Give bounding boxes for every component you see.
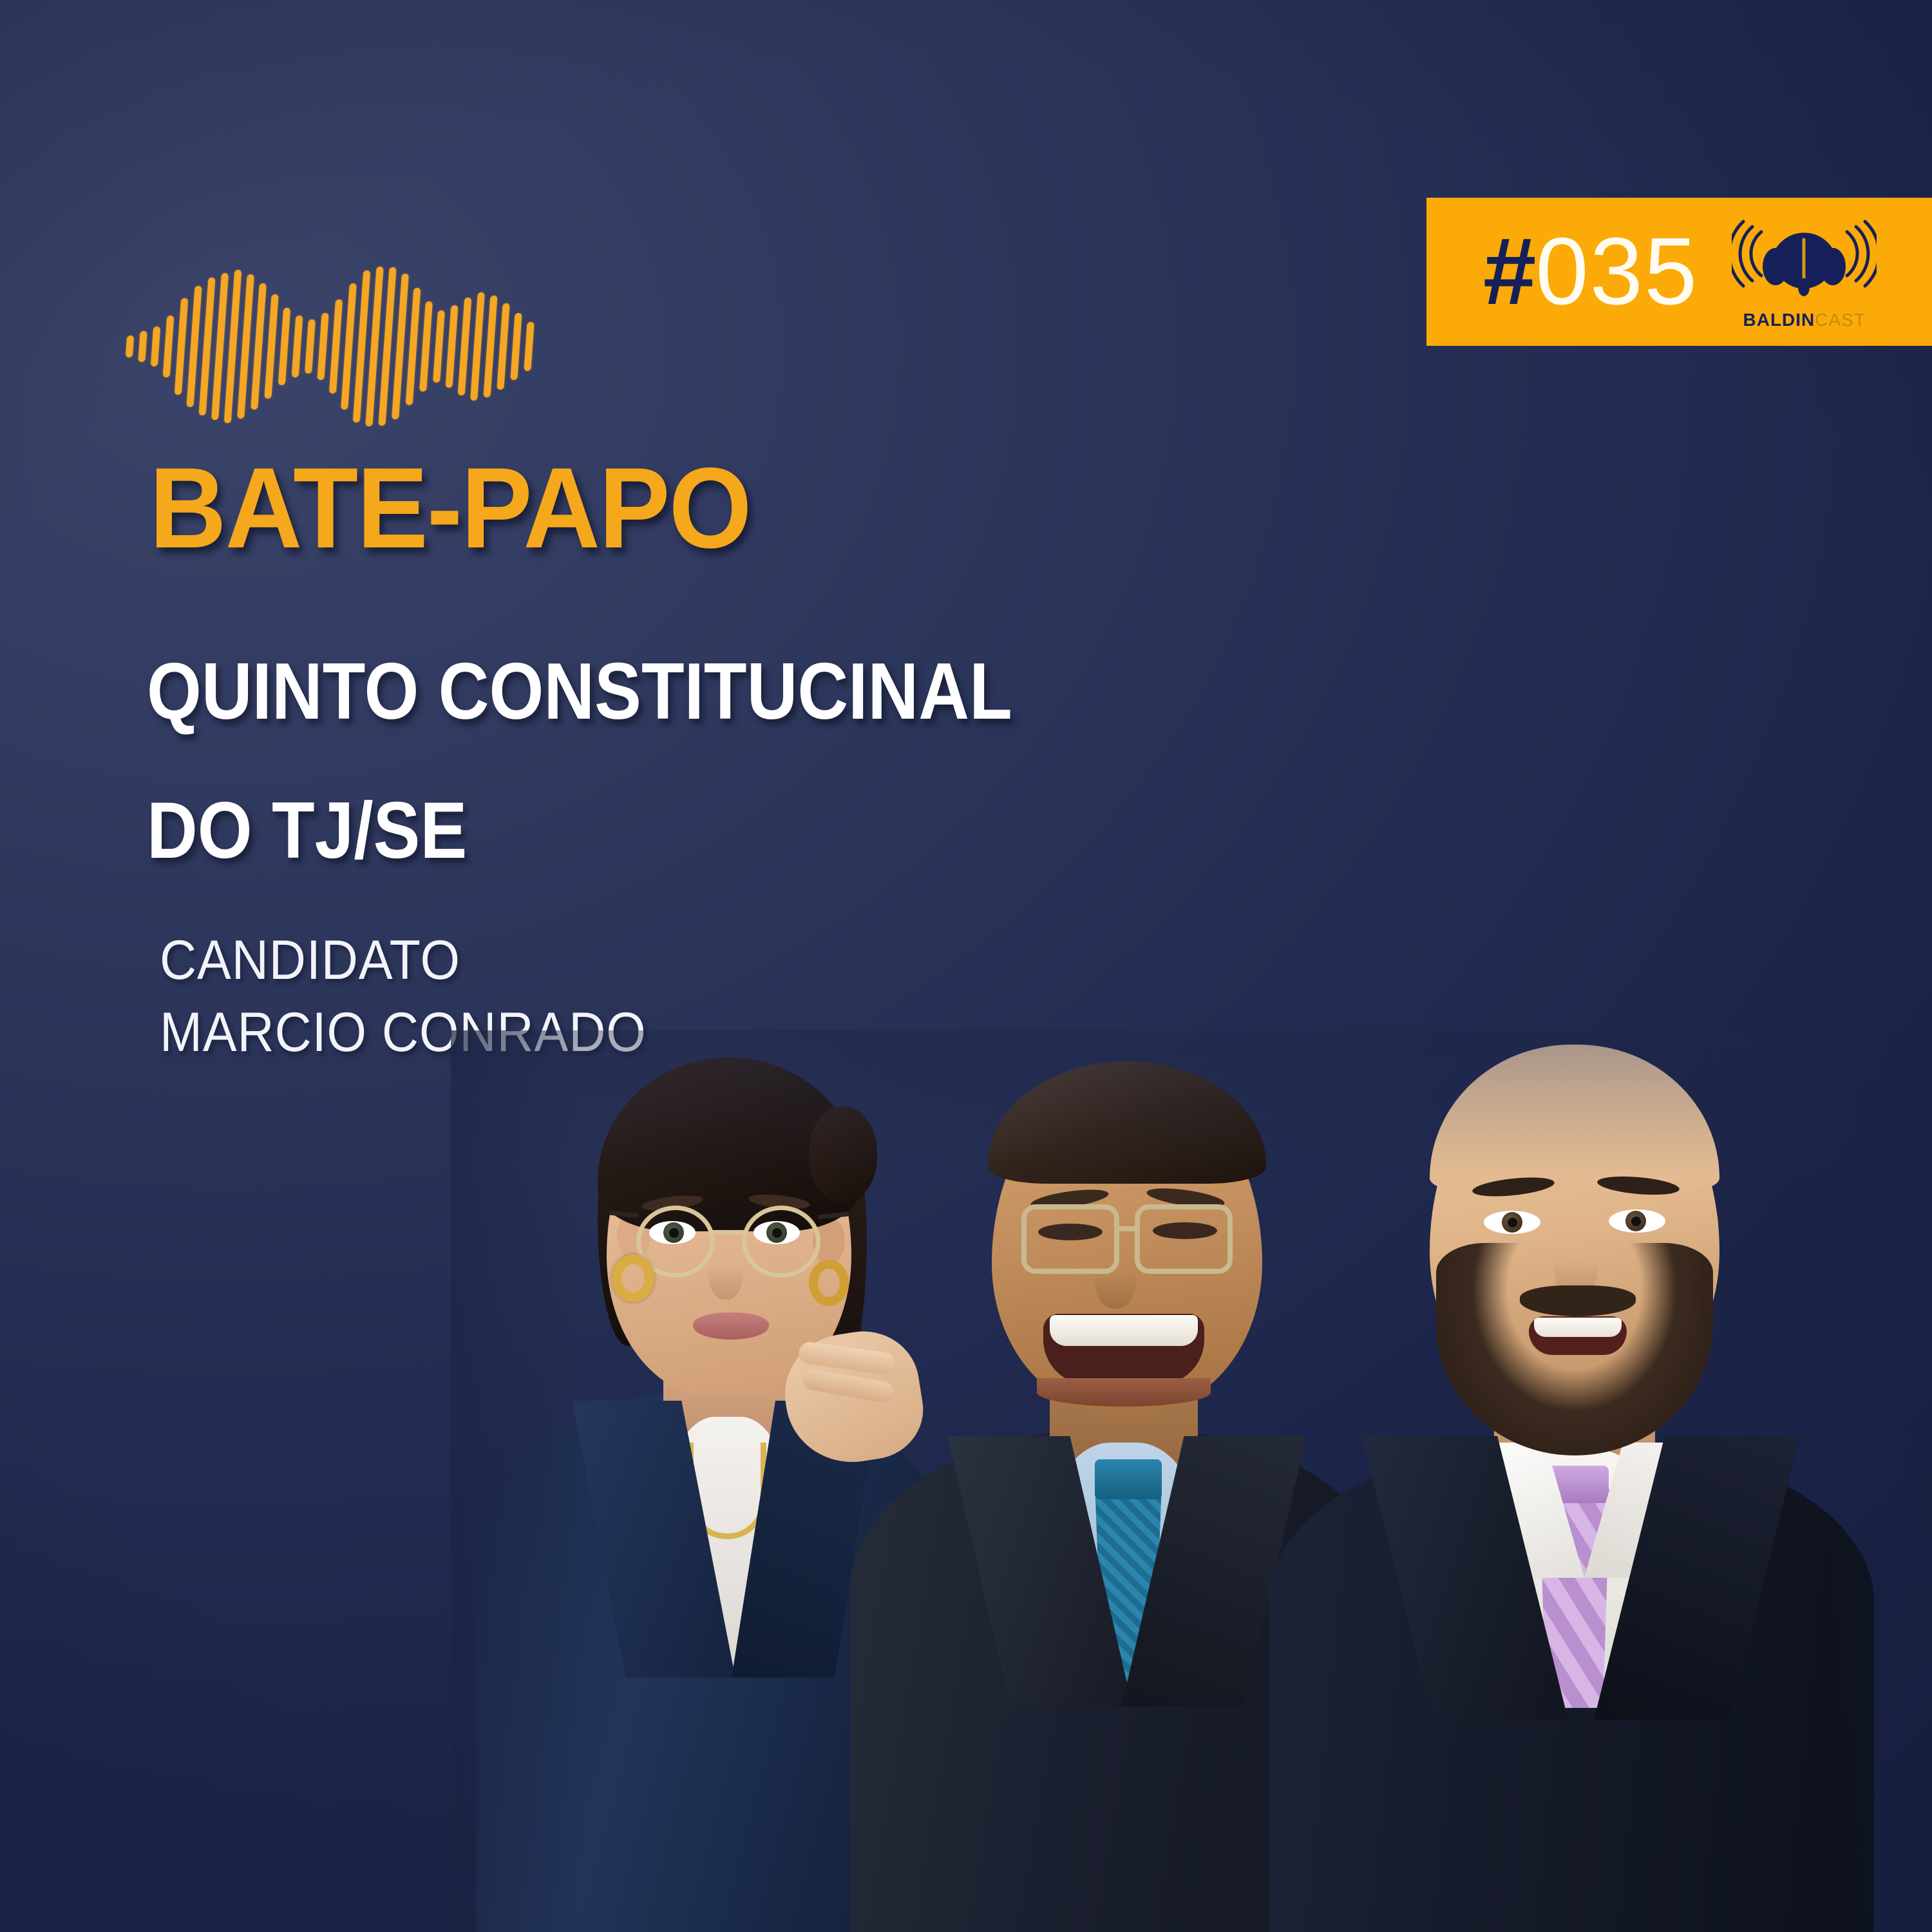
waveform-bar: [458, 298, 472, 395]
hash-symbol: #: [1483, 224, 1535, 319]
center-man-lower-lip: [1037, 1378, 1211, 1406]
woman-hair-bun: [809, 1106, 877, 1203]
headphones-soundwave-icon: [1732, 209, 1877, 299]
subtitle-line-1: QUINTO CONSTITUCINAL: [147, 652, 1012, 732]
hosts-photo: [451, 1030, 1932, 1932]
center-man-teeth: [1050, 1315, 1198, 1346]
episode-number: #035: [1483, 224, 1698, 319]
episode-digits: 035: [1535, 224, 1698, 319]
woman-glasses-lens-right: [742, 1206, 820, 1278]
right-man-pupil-left: [1508, 1218, 1517, 1227]
center-man-glasses-lens-left: [1021, 1204, 1119, 1274]
right-man-pupil-right: [1631, 1217, 1641, 1226]
waveform-bar: [264, 294, 278, 399]
woman-glasses-bridge: [712, 1230, 746, 1235]
right-man-teeth: [1534, 1318, 1622, 1337]
episode-badge: #035: [1426, 198, 1932, 346]
center-man-mouth: [1043, 1314, 1204, 1385]
right-man-bald-scalp: [1430, 1045, 1719, 1193]
waveform-bar: [317, 313, 328, 380]
right-man-eye-left: [1484, 1211, 1540, 1234]
logo-word-baldin: BALDIN: [1743, 310, 1815, 330]
podcast-cover: BATE-PAPO QUINTO CONSTITUCINAL DO TJ/SE …: [0, 0, 1932, 1932]
waveform-bar: [186, 286, 202, 407]
right-man-moustache: [1520, 1285, 1636, 1316]
waveform-bar: [446, 305, 459, 388]
waveform-bar: [278, 308, 290, 385]
waveform-bar: [138, 331, 147, 362]
woman-mouth: [693, 1312, 769, 1340]
baldincast-logo: BALDINCAST: [1732, 213, 1877, 332]
guest-role-label: CANDIDATO: [160, 933, 460, 988]
right-man-eye-right: [1609, 1209, 1665, 1233]
woman-nose: [708, 1243, 743, 1300]
center-man-tie-knot: [1095, 1459, 1162, 1499]
waveform-bar: [305, 319, 316, 374]
center-man-hair: [988, 1061, 1266, 1184]
center-man-glasses-lens-right: [1135, 1204, 1233, 1274]
waveform-bar: [151, 327, 160, 366]
baldincast-wordmark: BALDINCAST: [1732, 310, 1877, 330]
woman-earring-left: [612, 1255, 654, 1302]
waveform-bar: [126, 336, 134, 357]
center-man-glasses-bridge: [1117, 1226, 1139, 1231]
logo-word-cast: CAST: [1815, 310, 1866, 330]
waveform-bar: [433, 310, 445, 383]
page-title: BATE-PAPO: [149, 451, 751, 565]
woman-earring-right: [809, 1260, 849, 1306]
waveform-bar: [175, 298, 188, 395]
waveform-bar: [163, 316, 175, 377]
waveform-bar: [329, 299, 343, 393]
waveform-bar: [406, 288, 421, 405]
waveform-bar: [470, 292, 485, 401]
right-man-iris-left: [1502, 1212, 1522, 1233]
right-man-iris-right: [1625, 1211, 1646, 1231]
audio-waveform-icon: [126, 269, 490, 424]
waveform-bar: [419, 301, 433, 392]
waveform-bar: [292, 316, 303, 377]
right-man-mouth: [1529, 1316, 1627, 1355]
subtitle-line-2: DO TJ/SE: [147, 791, 467, 871]
